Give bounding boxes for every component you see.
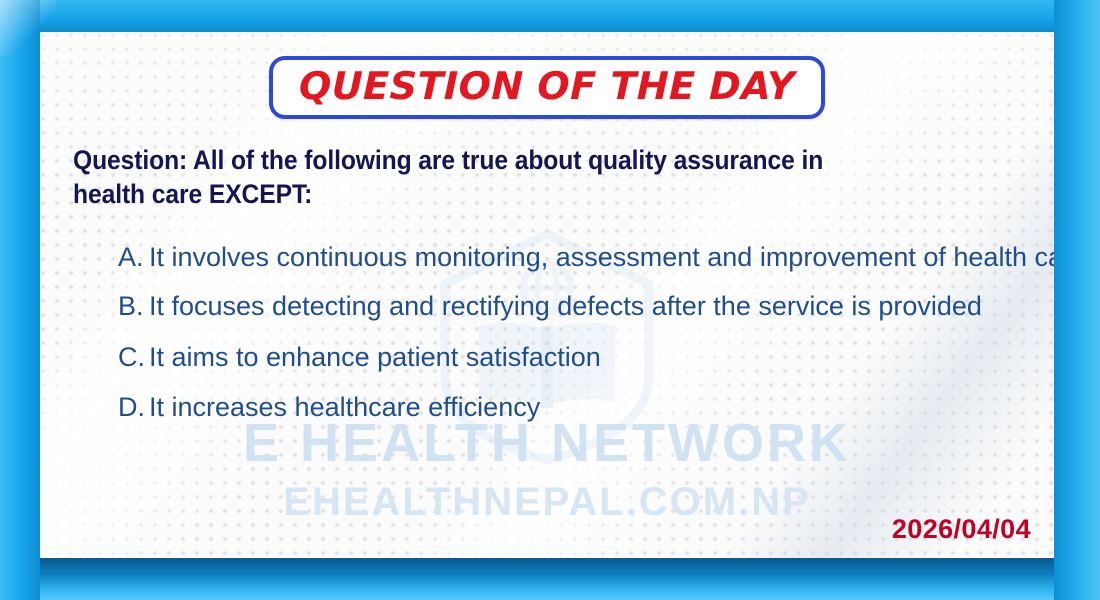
frame-left-edge <box>0 0 40 600</box>
frame-bottom-edge <box>0 558 1100 600</box>
date-label: 2026/04/04 <box>892 514 1031 545</box>
option-letter-a: A. <box>118 240 149 276</box>
option-item-d[interactable]: D. It increases healthcare efficiency <box>118 390 1054 426</box>
option-item-a[interactable]: A. It involves continuous monitoring, as… <box>118 240 1054 276</box>
frame-right-edge <box>1054 0 1100 600</box>
option-item-c[interactable]: C. It aims to enhance patient satisfacti… <box>118 340 1054 376</box>
option-text-d: It increases healthcare efficiency <box>149 390 1054 426</box>
options-list: A. It involves continuous monitoring, as… <box>118 240 1054 426</box>
option-letter-b: B. <box>118 289 149 325</box>
content-card: E HEALTH NETWORK EHEALTHNEPAL.COM.NP QUE… <box>40 32 1054 558</box>
title-pill: QUESTION OF THE DAY <box>269 56 825 119</box>
option-letter-d: D. <box>118 390 149 426</box>
option-text-b: It focuses detecting and rectifying defe… <box>149 289 998 325</box>
option-text-a: It involves continuous monitoring, asses… <box>149 240 1054 276</box>
option-text-c: It aims to enhance patient satisfaction <box>149 340 1054 376</box>
page-title: QUESTION OF THE DAY <box>299 66 796 106</box>
title-container: QUESTION OF THE DAY <box>40 56 1054 119</box>
option-letter-c: C. <box>118 340 149 376</box>
frame-top-edge <box>0 0 1100 32</box>
option-item-b[interactable]: B. It focuses detecting and rectifying d… <box>118 289 998 325</box>
question-of-the-day-slide: E HEALTH NETWORK EHEALTHNEPAL.COM.NP QUE… <box>0 0 1100 600</box>
question-text: Question: All of the following are true … <box>73 143 845 212</box>
